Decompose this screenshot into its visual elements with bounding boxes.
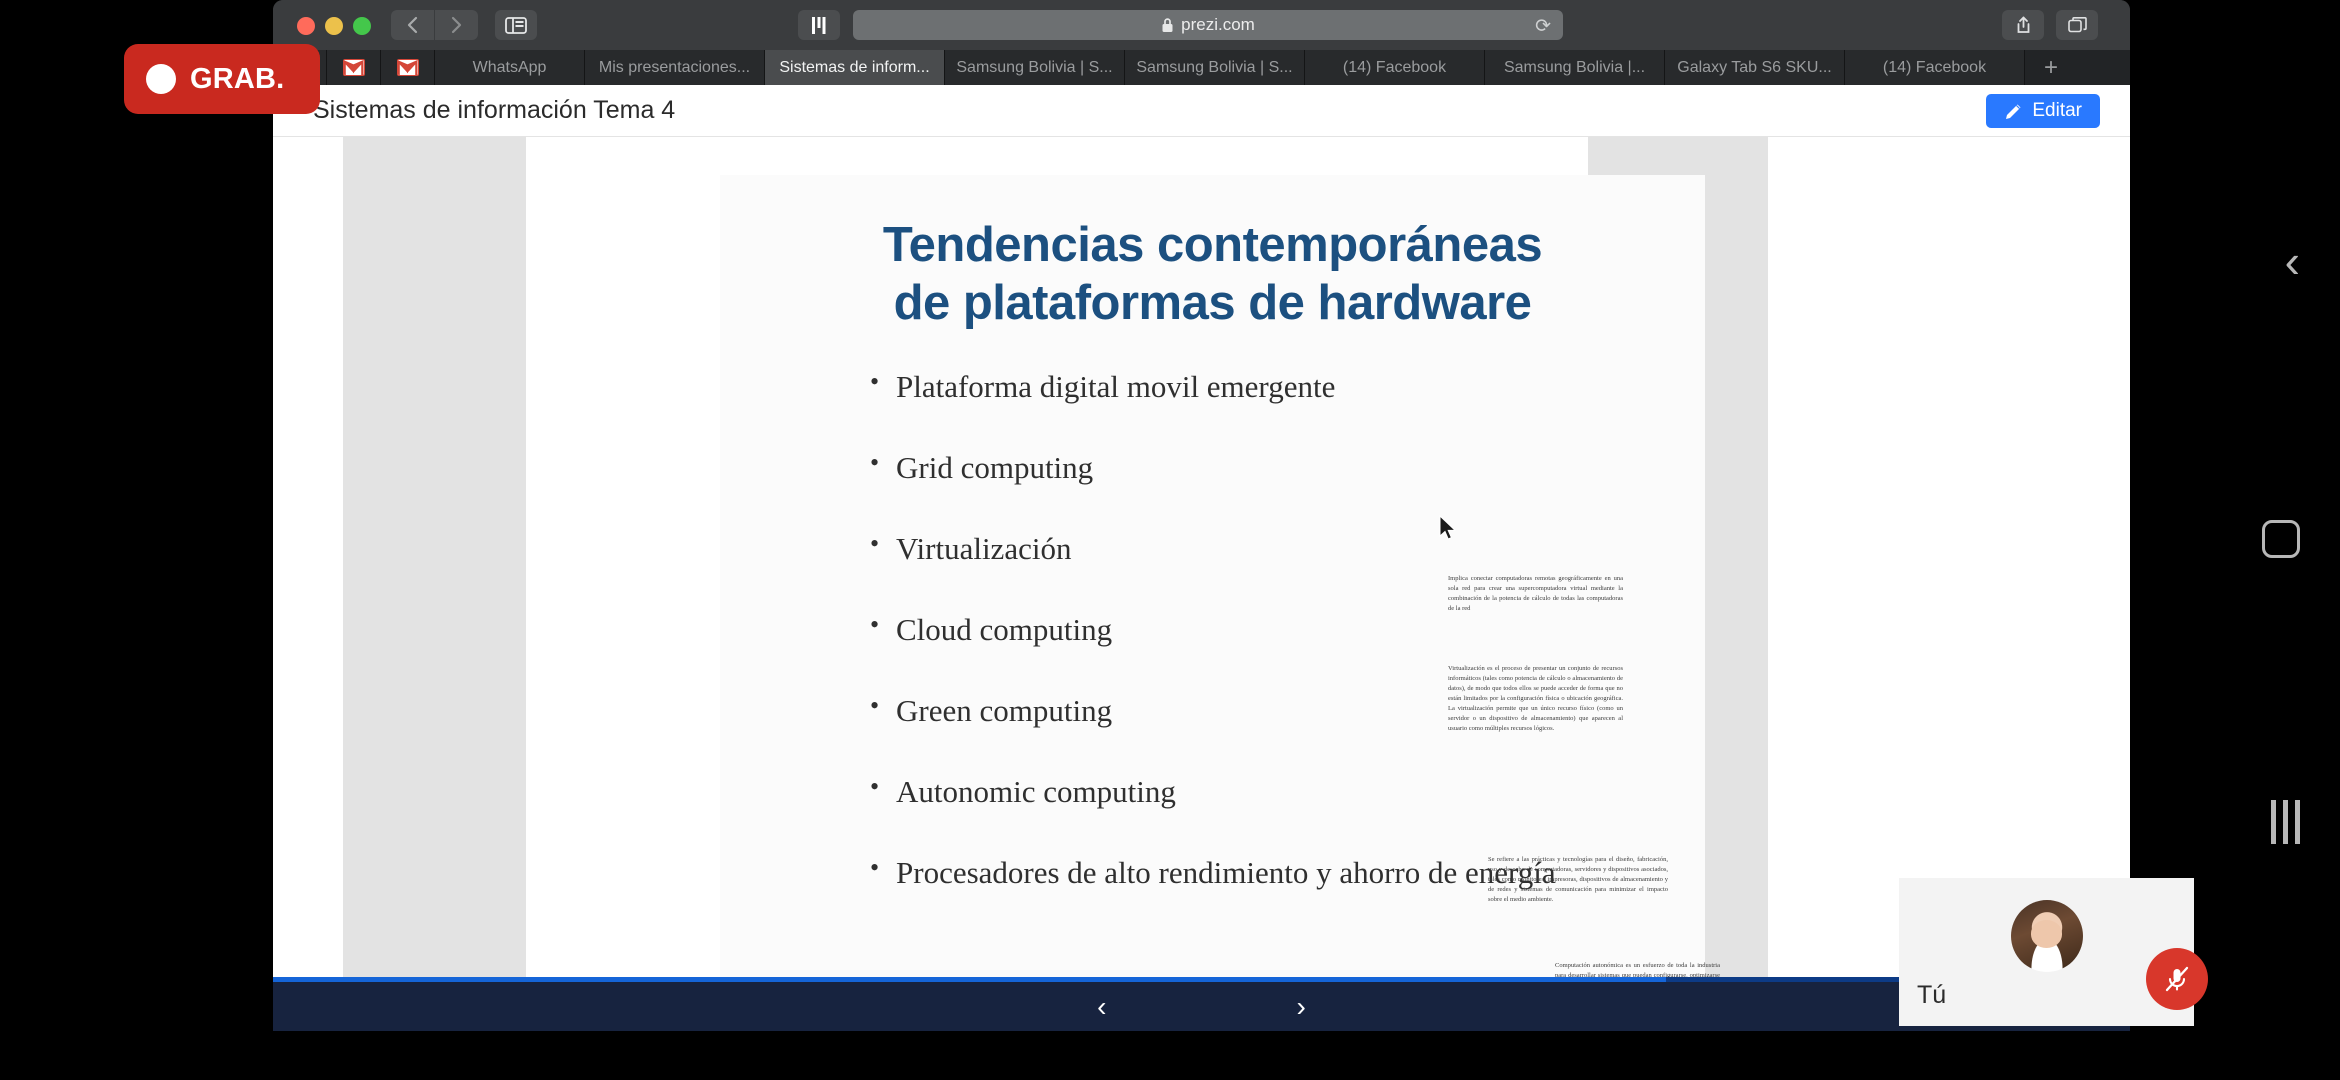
prezi-page-header: Sistemas de información Tema 4 Editar xyxy=(273,85,2130,137)
tab-label: Samsung Bolivia |... xyxy=(1504,59,1645,77)
tab-samsung-bolivia-3[interactable]: Samsung Bolivia |... xyxy=(1485,50,1665,85)
show-all-tabs-icon[interactable] xyxy=(2056,10,2098,40)
pencil-icon xyxy=(2004,102,2023,121)
window-close-button[interactable] xyxy=(297,17,315,35)
tab-whatsapp[interactable]: WhatsApp xyxy=(435,50,585,85)
slide-note-grid-computing: Implica conectar computadoras remotas ge… xyxy=(1448,574,1623,614)
previous-slide-button[interactable]: ‹ xyxy=(1097,993,1106,1021)
avatar xyxy=(2011,900,2083,972)
android-home-button[interactable] xyxy=(2262,520,2300,558)
share-icon[interactable] xyxy=(2002,10,2044,40)
tab-gmail-3[interactable] xyxy=(381,50,435,85)
tab-label: Mis presentaciones... xyxy=(599,59,750,77)
window-minimize-button[interactable] xyxy=(325,17,343,35)
gmail-icon xyxy=(343,59,365,76)
desktop-background: GRAB. xyxy=(0,0,2340,1080)
video-call-tile[interactable]: Tú xyxy=(1899,878,2194,1026)
tab-samsung-bolivia-2[interactable]: Samsung Bolivia | S... xyxy=(1125,50,1305,85)
tab-label: (14) Facebook xyxy=(1883,59,1986,77)
tab-label: (14) Facebook xyxy=(1343,59,1446,77)
edit-button[interactable]: Editar xyxy=(1986,94,2100,128)
tab-strip: WhatsApp Mis presentaciones... Sistemas … xyxy=(273,50,2130,85)
tab-sistemas-de-informacion[interactable]: Sistemas de inform... xyxy=(765,50,945,85)
android-recents-button[interactable] xyxy=(2271,800,2300,844)
prezi-navigation-bar: ‹ › ⚙ ⤡ xyxy=(273,982,2130,1031)
participant-name: Tú xyxy=(1917,981,1946,1010)
new-tab-button[interactable]: + xyxy=(2025,50,2077,85)
slide-gutter-left xyxy=(343,137,526,1031)
record-dot-icon xyxy=(146,64,176,94)
tab-facebook-2[interactable]: (14) Facebook xyxy=(1845,50,2025,85)
slide-bullet: Grid computing xyxy=(870,452,1705,483)
slide-title-line-2: de plataformas de hardware xyxy=(760,275,1665,333)
tab-mis-presentaciones[interactable]: Mis presentaciones... xyxy=(585,50,765,85)
address-bar[interactable]: prezi.com ⟳ xyxy=(853,10,1563,40)
slide-bullet: Virtualización xyxy=(870,533,1705,564)
slide-title-line-1: Tendencias contemporáneas xyxy=(760,217,1665,275)
tab-label: Sistemas de inform... xyxy=(779,59,929,77)
mouse-cursor xyxy=(1439,515,1459,543)
android-back-button[interactable]: ‹ xyxy=(2285,238,2300,284)
tab-samsung-bolivia-1[interactable]: Samsung Bolivia | S... xyxy=(945,50,1125,85)
tab-label: Samsung Bolivia | S... xyxy=(956,59,1112,77)
forward-button[interactable] xyxy=(435,10,478,40)
microphone-muted-icon[interactable] xyxy=(2146,948,2208,1010)
recent-apps-bar xyxy=(2271,800,2276,844)
recent-apps-bar xyxy=(2283,800,2288,844)
recent-apps-bar xyxy=(2295,800,2300,844)
prezi-viewer[interactable]: Tendencias contemporáneas de plataformas… xyxy=(273,137,2130,1031)
edit-button-label: Editar xyxy=(2032,100,2082,122)
slide-note-virtualizacion: Virtualización es el proceso de presenta… xyxy=(1448,664,1623,734)
reader-view-icon[interactable] xyxy=(798,10,840,40)
back-button[interactable] xyxy=(391,10,434,40)
tab-galaxy-tab-s6[interactable]: Galaxy Tab S6 SKU... xyxy=(1665,50,1845,85)
slide-bullet: Cloud computing xyxy=(870,614,1705,645)
screen-recorder-badge[interactable]: GRAB. xyxy=(124,44,320,114)
sidebar-toggle-icon[interactable] xyxy=(495,10,537,40)
tab-facebook-1[interactable]: (14) Facebook xyxy=(1305,50,1485,85)
browser-window: prezi.com ⟳ WhatsApp xyxy=(273,0,2130,1031)
slide-title: Tendencias contemporáneas de plataformas… xyxy=(720,217,1705,333)
tab-label: Samsung Bolivia | S... xyxy=(1136,59,1292,77)
url-text: prezi.com xyxy=(1181,15,1255,35)
recorder-label: GRAB. xyxy=(190,63,284,96)
window-maximize-button[interactable] xyxy=(353,17,371,35)
page-title: Sistemas de información Tema 4 xyxy=(313,96,675,125)
next-slide-button[interactable]: › xyxy=(1297,993,1306,1021)
tab-gmail-2[interactable] xyxy=(327,50,381,85)
lock-icon xyxy=(1161,17,1174,33)
tab-label: WhatsApp xyxy=(473,59,547,77)
gmail-icon xyxy=(397,59,419,76)
new-tab-label: + xyxy=(2044,54,2058,82)
reload-icon[interactable]: ⟳ xyxy=(1535,15,1551,38)
slide-note-green-computing: Se refiere a las prácticas y tecnologías… xyxy=(1488,855,1668,905)
browser-toolbar: prezi.com ⟳ xyxy=(273,0,2130,50)
slide-bullet-list: Plataforma digital movil emergente Grid … xyxy=(720,371,1705,888)
tab-label: Galaxy Tab S6 SKU... xyxy=(1677,59,1831,77)
slide-bullet: Plataforma digital movil emergente xyxy=(870,371,1705,402)
slide-bullet: Autonomic computing xyxy=(870,776,1705,807)
